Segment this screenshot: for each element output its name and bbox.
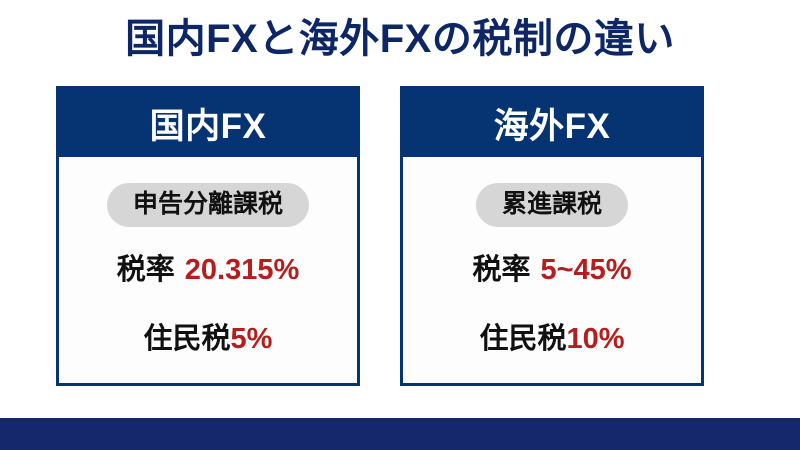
card-domestic-fx: 国内FX 申告分離課税 税率20.315% 住民税5% [56,86,360,386]
tax-type-badge-domestic: 申告分離課税 [107,183,309,227]
resident-tax-value-overseas: 10% [566,323,624,355]
tax-rate-label-overseas: 税率 [472,254,530,286]
card-header-overseas-fx: 海外FX [403,89,701,157]
page-title: 国内FXと海外FXの税制の違い [0,16,800,62]
resident-tax-row-domestic: 住民税5% [59,315,357,357]
tax-type-badge-overseas: 累進課税 [476,183,628,227]
resident-tax-row-overseas: 住民税10% [403,315,701,357]
tax-rate-row-overseas: 税率5~45% [403,246,701,288]
card-body-overseas-fx: 累進課税 税率5~45% 住民税10% [403,157,701,383]
tax-rate-value-domestic: 20.315% [185,254,300,286]
card-overseas-fx: 海外FX 累進課税 税率5~45% 住民税10% [400,86,704,386]
comparison-cards: 国内FX 申告分離課税 税率20.315% 住民税5% 海外FX 累進課税 税率… [56,86,704,386]
resident-tax-label-domestic: 住民税 [144,323,231,355]
infographic-page: 国内FXと海外FXの税制の違い 国内FX 申告分離課税 税率20.315% 住民… [0,0,800,450]
footer-accent-bar [0,418,800,450]
tax-rate-value-overseas: 5~45% [540,254,631,286]
resident-tax-label-overseas: 住民税 [479,323,566,355]
card-body-domestic-fx: 申告分離課税 税率20.315% 住民税5% [59,157,357,383]
tax-rate-row-domestic: 税率20.315% [59,246,357,288]
resident-tax-value-domestic: 5% [231,323,273,355]
card-header-domestic-fx: 国内FX [59,89,357,157]
tax-rate-label-domestic: 税率 [117,254,175,286]
